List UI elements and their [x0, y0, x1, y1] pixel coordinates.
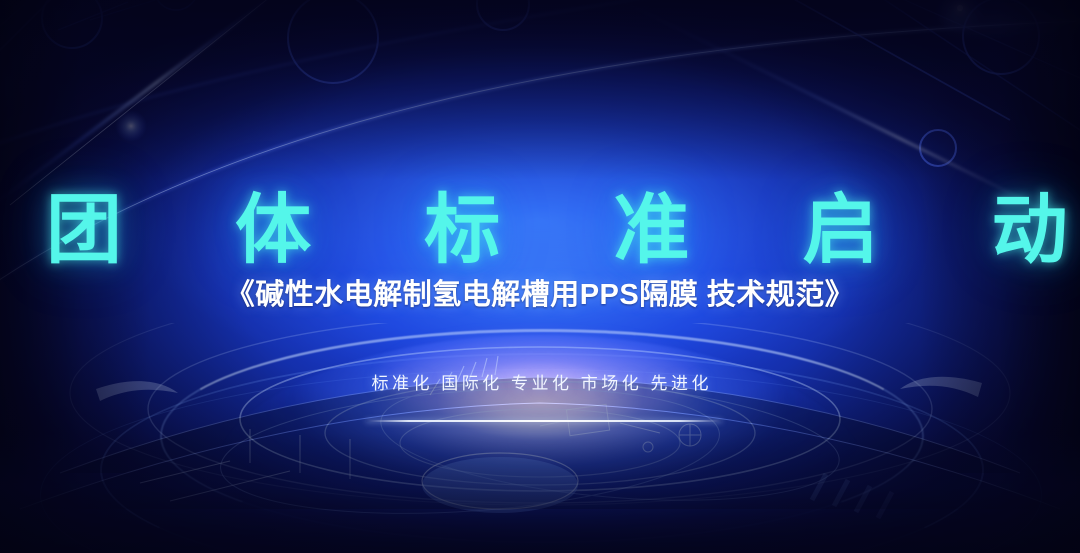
page-title: 团 体 标 准 启 动 会 [0, 193, 1080, 269]
standard-name-subtitle: 《碱性水电解制氢电解槽用PPS隔膜 技术规范》 [0, 280, 1080, 312]
poster-content: 团 体 标 准 启 动 会 《碱性水电解制氢电解槽用PPS隔膜 技术规范》 标准… [0, 0, 1080, 553]
divider-line [366, 420, 722, 422]
tagline-text: 标准化 国际化 专业化 市场化 先进化 [0, 375, 1080, 392]
poster-canvas: 团 体 标 准 启 动 会 《碱性水电解制氢电解槽用PPS隔膜 技术规范》 标准… [0, 0, 1080, 553]
